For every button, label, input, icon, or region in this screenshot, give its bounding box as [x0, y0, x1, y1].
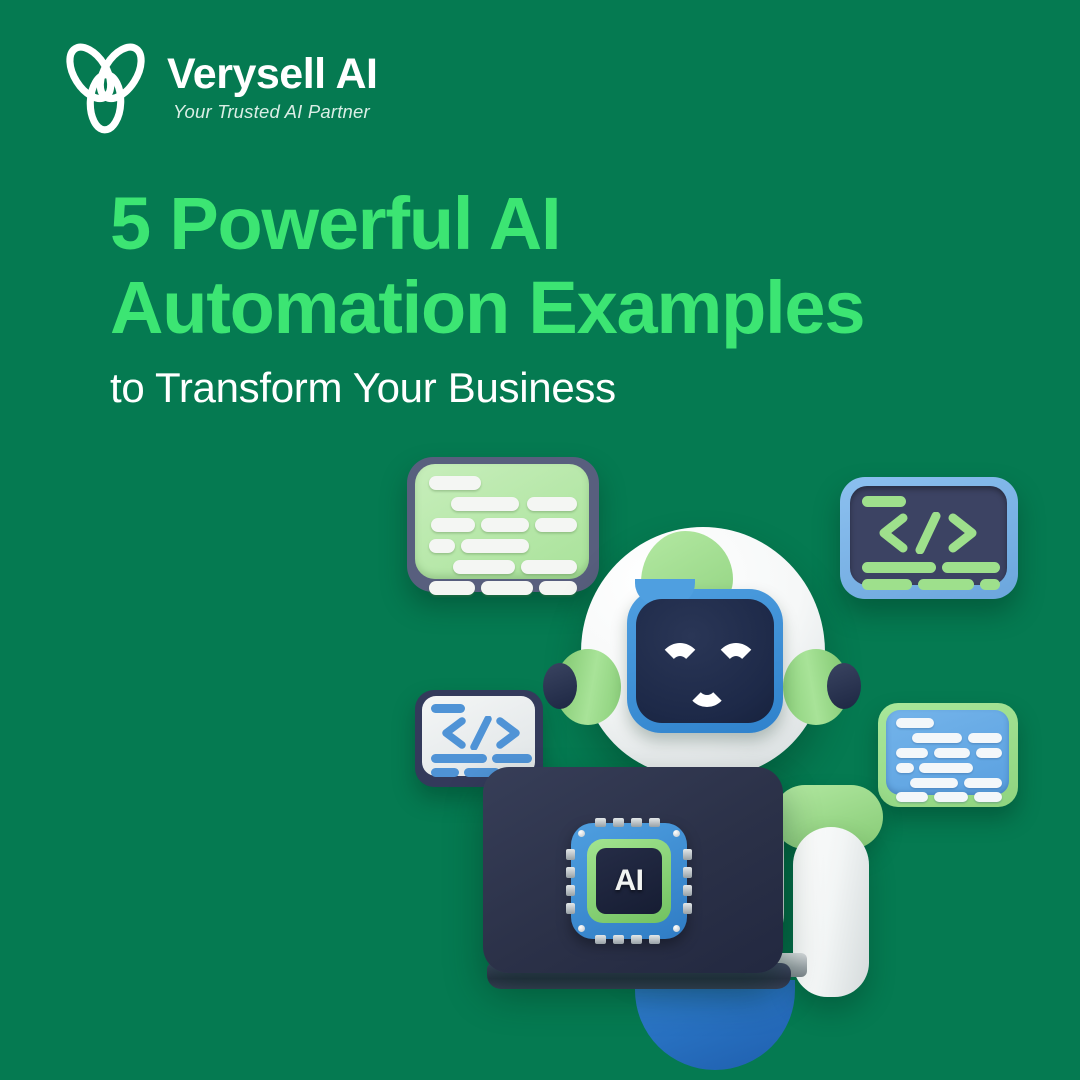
- chip-corner-dot: [578, 925, 585, 932]
- headline-line-2: Automation Examples: [110, 266, 1010, 350]
- chip-pin: [631, 935, 642, 944]
- chip-pin: [566, 885, 575, 896]
- robot-face-screen: [636, 599, 774, 723]
- headline-block: 5 Powerful AI Automation Examples to Tra…: [110, 182, 1010, 414]
- chip-pin: [613, 818, 624, 827]
- robot-face-bezel: [627, 589, 783, 733]
- chip-pin: [566, 867, 575, 878]
- poster-canvas: Verysell AI Your Trusted AI Partner 5 Po…: [0, 0, 1080, 1080]
- robot-head: [581, 527, 825, 777]
- robot-eye-right: [714, 643, 758, 667]
- robot-eye-left: [658, 643, 702, 667]
- chip-corner-dot: [673, 925, 680, 932]
- chip-inner-frame: AI: [587, 839, 671, 923]
- ai-chip-icon: AI: [571, 823, 687, 939]
- chip-pin: [683, 885, 692, 896]
- brand-tagline: Your Trusted AI Partner: [173, 101, 377, 123]
- chip-pin: [683, 849, 692, 860]
- brand-text: Verysell AI Your Trusted AI Partner: [167, 34, 377, 123]
- laptop-screen: AI: [483, 767, 783, 973]
- chip-pin: [631, 818, 642, 827]
- robot-ear-core: [543, 663, 577, 709]
- chip-pin: [566, 849, 575, 860]
- verysell-trefoil-loops-icon: [58, 38, 153, 138]
- robot-ear-core: [827, 663, 861, 709]
- robot-ear-right: [783, 649, 849, 725]
- chip-core: AI: [596, 848, 662, 914]
- robot-illustration: AI: [395, 435, 1035, 1035]
- robot-ear-left: [555, 649, 621, 725]
- brand-name: Verysell AI: [167, 52, 377, 97]
- chip-pin: [649, 935, 660, 944]
- brand-logo[interactable]: Verysell AI Your Trusted AI Partner: [58, 34, 377, 138]
- chip-pin: [683, 903, 692, 914]
- chip-pin: [649, 818, 660, 827]
- robot-laptop: AI: [483, 767, 793, 997]
- chip-corner-dot: [673, 830, 680, 837]
- chip-pin: [613, 935, 624, 944]
- robot-character: AI: [395, 435, 1035, 1035]
- chip-label: AI: [615, 866, 644, 896]
- chip-pin: [595, 818, 606, 827]
- chip-pin: [683, 867, 692, 878]
- robot-smile: [686, 685, 728, 707]
- subheadline: to Transform Your Business: [110, 363, 1010, 413]
- headline-line-1: 5 Powerful AI: [110, 182, 1010, 266]
- chip-corner-dot: [578, 830, 585, 837]
- chip-pin: [566, 903, 575, 914]
- chip-pin: [595, 935, 606, 944]
